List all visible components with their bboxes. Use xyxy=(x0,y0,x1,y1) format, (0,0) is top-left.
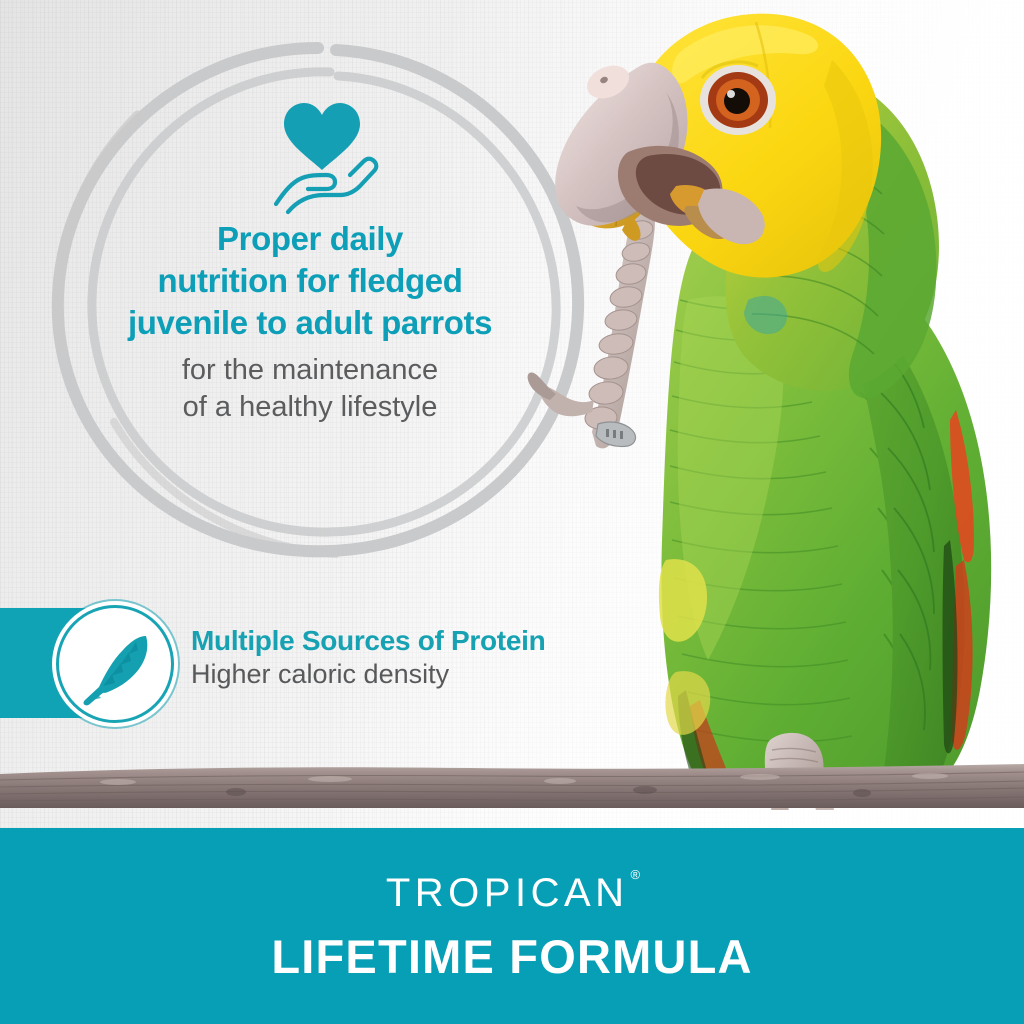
brand-name-text: TROPICAN xyxy=(386,871,629,915)
brand-tagline: LIFETIME FORMULA xyxy=(271,933,752,980)
feature-subtitle: Higher caloric density xyxy=(191,659,711,691)
heart-in-hand-icon xyxy=(258,96,386,216)
registered-trademark-icon: ® xyxy=(631,867,641,882)
feature-title: Multiple Sources of Protein xyxy=(191,625,711,657)
feature-text-block: Multiple Sources of Protein Higher calor… xyxy=(191,625,711,691)
brand-name: TROPICAN® xyxy=(386,873,638,913)
feature-medallion xyxy=(56,605,174,723)
wooden-branch-perch xyxy=(0,762,1024,808)
feather-icon xyxy=(75,624,159,708)
product-poster: Proper daily nutrition for fledged juven… xyxy=(0,0,1024,1024)
brand-footer: TROPICAN® LIFETIME FORMULA xyxy=(0,828,1024,1024)
